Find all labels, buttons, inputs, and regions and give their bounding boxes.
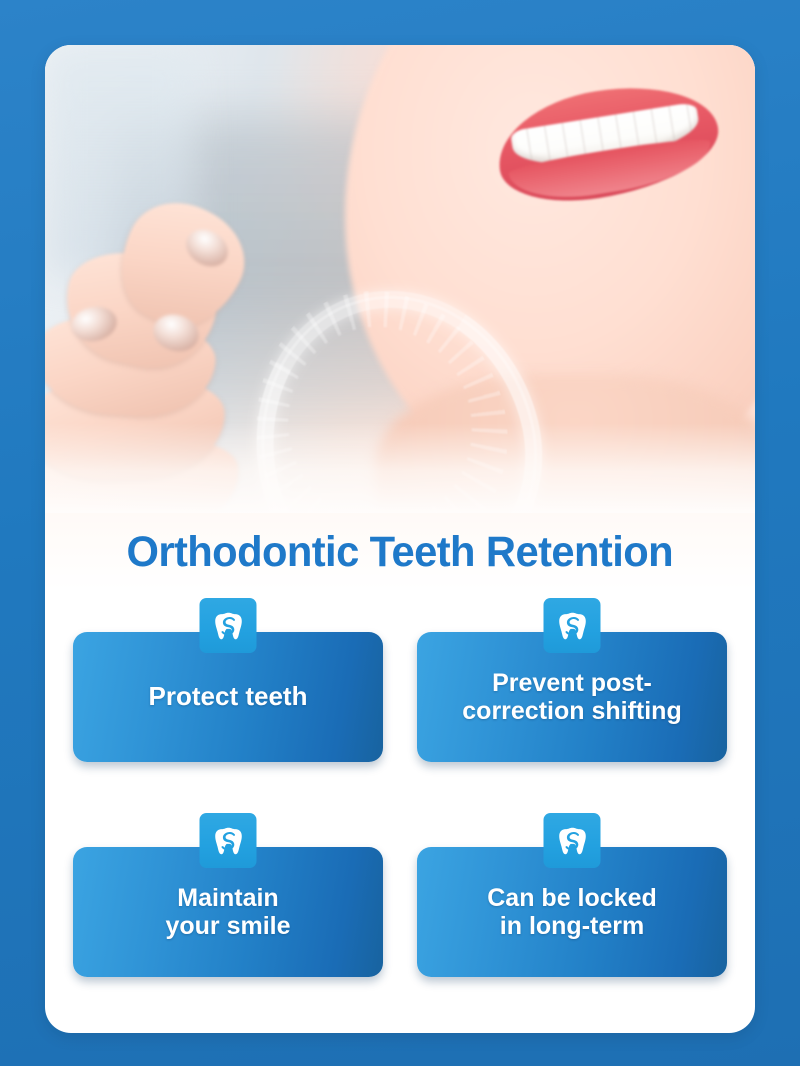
feature-card-3[interactable]: Maintain your smile	[73, 813, 383, 977]
feature-card-label: Can be locked in long-term	[475, 884, 669, 940]
tooth-logo-icon	[200, 813, 257, 868]
tooth-logo-icon	[200, 598, 257, 653]
tooth-logo-icon	[544, 813, 601, 868]
page-title: Orthodontic Teeth Retention	[45, 513, 755, 591]
page-title-text: Orthodontic Teeth Retention	[127, 528, 674, 577]
content-card: Orthodontic Teeth Retention Protect teet…	[45, 45, 755, 1033]
feature-card-2[interactable]: Prevent post- correction shifting	[417, 598, 727, 762]
feature-card-1[interactable]: Protect teeth	[73, 598, 383, 762]
feature-card-label: Maintain your smile	[153, 884, 302, 940]
feature-grid: Protect teeth Prevent post- correction s…	[73, 598, 727, 977]
feature-card-4[interactable]: Can be locked in long-term	[417, 813, 727, 977]
hero-bottom-fade	[45, 423, 755, 515]
feature-card-label: Protect teeth	[137, 682, 320, 711]
poster-root: Orthodontic Teeth Retention Protect teet…	[0, 0, 800, 1066]
hero-image	[45, 45, 755, 515]
tooth-logo-icon	[544, 598, 601, 653]
feature-card-label: Prevent post- correction shifting	[450, 669, 693, 725]
